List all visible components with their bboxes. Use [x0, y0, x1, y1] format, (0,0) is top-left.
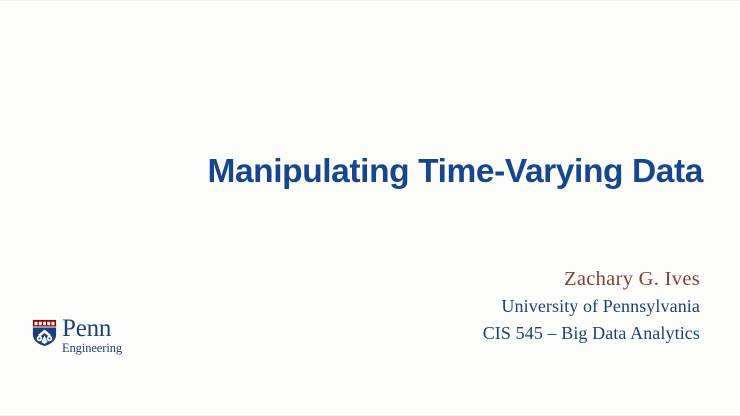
author-block: Zachary G. Ives University of Pennsylvan…: [483, 266, 700, 347]
penn-wordmark-school: Engineering: [62, 341, 122, 355]
letterbox-top: [0, 0, 740, 3]
page-title: Manipulating Time-Varying Data: [0, 152, 703, 192]
author-name: Zachary G. Ives: [483, 266, 700, 293]
penn-engineering-logo: Penn Engineering: [32, 318, 122, 355]
author-course: CIS 545 – Big Data Analytics: [483, 320, 700, 347]
penn-wordmark: Penn Engineering: [62, 318, 122, 355]
penn-wordmark-name: Penn: [62, 318, 122, 340]
penn-shield-icon: [32, 319, 57, 347]
title-slide: Manipulating Time-Varying Data Zachary G…: [0, 0, 740, 416]
author-affiliation: University of Pennsylvania: [483, 293, 700, 320]
